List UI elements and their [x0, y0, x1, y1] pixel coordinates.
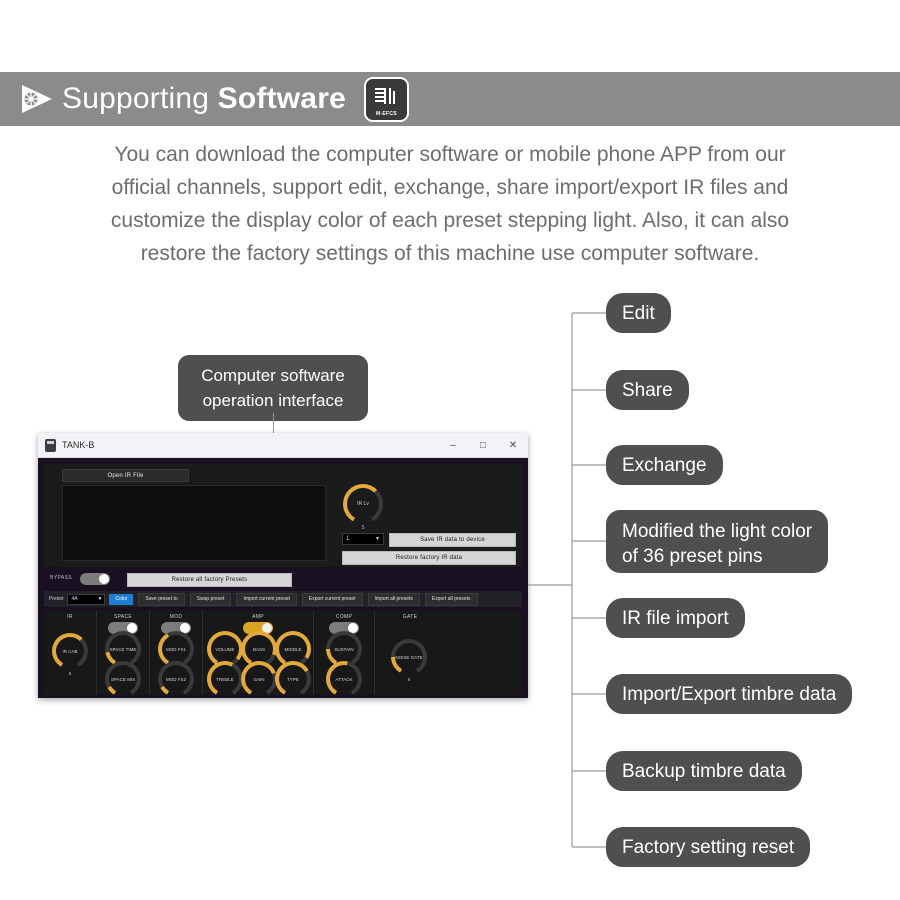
intro-line-3: customize the display color of each pres… [0, 204, 900, 237]
section-title: SPACE [97, 614, 149, 620]
feature-pill-label: Exchange [622, 453, 707, 478]
feature-pill-factory-reset[interactable]: Factory setting reset [606, 827, 810, 867]
knob-ir-cab[interactable]: IR CAB5 [52, 633, 88, 669]
color-button[interactable]: Color [109, 594, 133, 605]
page-header-band: Supporting Software M-EFCS [0, 72, 900, 126]
window-title: TANK-B [62, 440, 94, 450]
ir-panel: Open IR File IR Lv 5 1 ▼ Save IR data to… [44, 464, 522, 567]
knob-label: TREBLE [207, 661, 243, 697]
knob-label: MOD FX2 [158, 661, 194, 697]
close-icon[interactable]: ✕ [498, 433, 528, 457]
app-icon [45, 439, 56, 452]
intro-paragraph: You can download the computer software o… [0, 138, 900, 270]
bypass-toggle[interactable] [80, 573, 110, 585]
ir-level-knob-value: 5 [343, 525, 383, 531]
knob-value: 5 [52, 671, 88, 676]
export-all-presets-button[interactable]: Export all presets [425, 593, 478, 606]
ir-slot-select[interactable]: 1 ▼ [342, 533, 384, 545]
preset-select-value: 4A [71, 596, 77, 602]
ir-level-knob[interactable]: IR Lv 5 [343, 484, 383, 524]
feature-pill-backup-timbre[interactable]: Backup timbre data [606, 751, 802, 791]
intro-line-1: You can download the computer software o… [0, 138, 900, 171]
chevron-down-icon: ▼ [375, 536, 380, 542]
knob-label: TYPE [275, 661, 311, 697]
intro-line-2: official channels, support edit, exchang… [0, 171, 900, 204]
effects-knob-panel: IRIR CAB5SPACESPACE TIME1SPACE MIX0MODMO… [44, 611, 522, 695]
feature-pill-label: IR file import [622, 606, 729, 631]
tank-b-app-window: TANK-B – □ ✕ Open IR File IR Lv 5 1 ▼ Sa… [38, 433, 528, 698]
knob-label: IR CAB [52, 633, 88, 669]
page-title: Supporting Software [62, 82, 346, 116]
feature-pill-label: Factory setting reset [622, 835, 794, 860]
callout-computer-software: Computer software operation interface [178, 355, 368, 421]
knob-label: SPACE MIX [105, 661, 141, 697]
import-current-preset-button[interactable]: Import current preset [236, 593, 296, 606]
feature-pill-label: Modified the light color [622, 519, 812, 544]
section-title: AMP [203, 614, 313, 620]
export-current-preset-button[interactable]: Export current preset [302, 593, 363, 606]
section-comp: COMPSUSTAIN4ATTACK44 [314, 611, 375, 695]
section-mod: MODMOD FX122MOD FX20 [150, 611, 203, 695]
restore-all-factory-presets-button[interactable]: Restore all factory Presets [127, 573, 292, 587]
window-body: Open IR File IR Lv 5 1 ▼ Save IR data to… [38, 458, 528, 698]
section-amp: AMPVOLUME83BASS77MIDDLE81TREBLE49GAIN63T… [203, 611, 314, 695]
preset-toolbar: Preset 4A ▼ Color Save preset to Swap pr… [44, 591, 522, 607]
m-efcs-logo-icon: M-EFCS [364, 77, 409, 122]
feature-pill-import-export-timbre[interactable]: Import/Export timbre data [606, 674, 852, 714]
feature-pill-label-2: of 36 preset pins [622, 544, 762, 569]
ir-waveform-canvas[interactable] [62, 485, 326, 561]
feature-pill-exchange[interactable]: Exchange [606, 445, 723, 485]
section-title: COMP [314, 614, 374, 620]
save-preset-to-button[interactable]: Save preset to [138, 593, 184, 606]
feature-pill-label: Share [622, 378, 673, 403]
knob-mod-fx2[interactable]: MOD FX20 [158, 661, 194, 697]
minimize-icon[interactable]: – [438, 433, 468, 457]
knob-label: ATTACK [326, 661, 362, 697]
swap-preset-button[interactable]: Swap preset [190, 593, 232, 606]
maximize-icon[interactable]: □ [468, 433, 498, 457]
save-ir-data-button[interactable]: Save IR data to device [389, 533, 516, 547]
knob-value: 6 [391, 677, 427, 682]
section-space: SPACESPACE TIME1SPACE MIX0 [97, 611, 150, 695]
feature-pill-label: Edit [622, 301, 655, 326]
knob-gain[interactable]: GAIN63 [241, 661, 277, 697]
feature-pill-label: Backup timbre data [622, 759, 786, 784]
restore-factory-ir-button[interactable]: Restore factory IR data [342, 551, 516, 565]
play-triangle-icon [14, 77, 58, 121]
ir-level-knob-label: IR Lv [343, 484, 383, 524]
knob-label: GAIN [241, 661, 277, 697]
feature-pill-edit[interactable]: Edit [606, 293, 671, 333]
page-title-light: Supporting [62, 82, 218, 115]
logo-bars [373, 86, 399, 112]
knob-label: NOISE GATE [391, 639, 427, 675]
bypass-label: BYPASS [50, 575, 72, 581]
section-ir: IRIR CAB5 [44, 611, 97, 695]
logo-wordmark: M-EFCS [366, 111, 407, 117]
knob-noise-gate[interactable]: NOISE GATE6 [391, 639, 427, 675]
knob-attack[interactable]: ATTACK44 [326, 661, 362, 697]
feature-pill-label: Import/Export timbre data [622, 682, 836, 707]
bypass-row: BYPASS Restore all factory Presets [44, 571, 522, 587]
feature-pill-ir-file-import[interactable]: IR file import [606, 598, 745, 638]
bypass-toggle-knob [99, 574, 109, 584]
preset-select[interactable]: 4A ▼ [67, 594, 105, 605]
import-all-presets-button[interactable]: Import all presets [368, 593, 420, 606]
feature-pill-modified-light-color[interactable]: Modified the light color of 36 preset pi… [606, 510, 828, 573]
callout-line-2: operation interface [184, 388, 362, 413]
knob-treble[interactable]: TREBLE49 [207, 661, 243, 697]
window-titlebar[interactable]: TANK-B – □ ✕ [38, 433, 528, 458]
intro-line-4: restore the factory settings of this mac… [0, 237, 900, 270]
callout-line-1: Computer software [184, 363, 362, 388]
knob-space-mix[interactable]: SPACE MIX0 [105, 661, 141, 697]
section-gate: GATENOISE GATE6 [375, 611, 445, 695]
section-title: IR [44, 614, 96, 620]
chevron-down-icon: ▼ [98, 596, 103, 602]
section-title: GATE [375, 614, 445, 620]
page-title-bold: Software [218, 82, 346, 115]
knob-type[interactable]: TYPE6 [275, 661, 311, 697]
section-title: MOD [150, 614, 202, 620]
ir-slot-value: 1 [346, 536, 349, 542]
feature-pill-share[interactable]: Share [606, 370, 689, 410]
preset-label: Preset [49, 596, 63, 602]
open-ir-file-button[interactable]: Open IR File [62, 469, 189, 482]
